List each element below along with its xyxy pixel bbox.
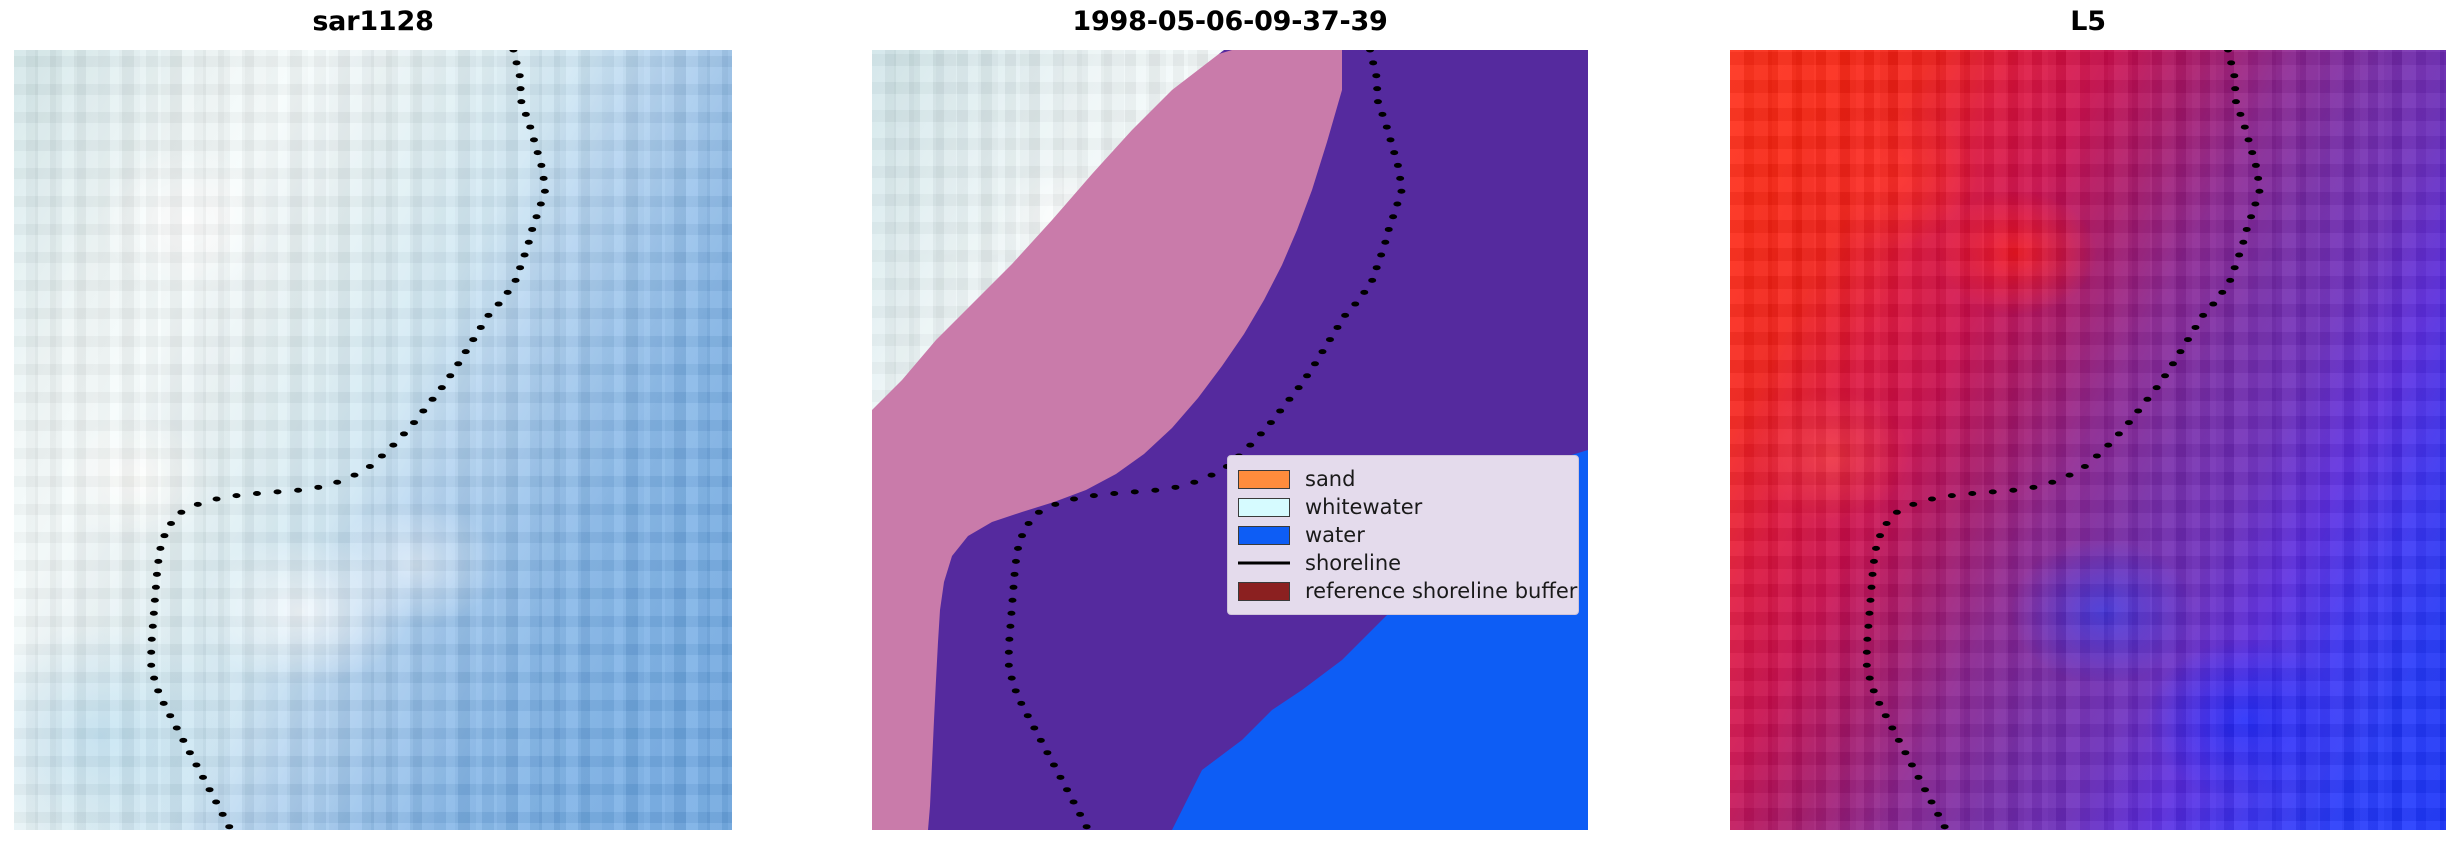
legend-label-whitewater: whitewater: [1305, 497, 1422, 518]
shoreline-overlay-l5: [1730, 50, 2446, 830]
legend-label-water: water: [1305, 525, 1365, 546]
legend-label-reference-buffer: reference shoreline buffer: [1305, 581, 1577, 602]
legend-item-reference-buffer[interactable]: reference shoreline buffer: [1238, 577, 1566, 605]
legend-label-shoreline: shoreline: [1305, 553, 1401, 574]
axes-sar[interactable]: [14, 50, 732, 830]
reference-buffer-swatch: [1238, 582, 1290, 601]
axes-classified[interactable]: sand whitewater water shoreline referenc…: [872, 50, 1588, 830]
legend-box[interactable]: sand whitewater water shoreline referenc…: [1227, 455, 1579, 615]
shoreline-line-marker: [1238, 554, 1290, 573]
shoreline-overlay-classified: [872, 50, 1588, 830]
panel-sar1128: sar1128: [14, 0, 732, 859]
legend-item-water[interactable]: water: [1238, 521, 1566, 549]
panel-title-sar: sar1128: [14, 0, 732, 44]
figure-root: sar1128 1998-05-06-09-37-39: [0, 0, 2460, 859]
legend-item-whitewater[interactable]: whitewater: [1238, 493, 1566, 521]
sand-swatch: [1238, 470, 1290, 489]
legend-item-sand[interactable]: sand: [1238, 465, 1566, 493]
water-swatch: [1238, 526, 1290, 545]
axes-l5[interactable]: [1730, 50, 2446, 830]
whitewater-swatch: [1238, 498, 1290, 517]
legend-label-sand: sand: [1305, 469, 1355, 490]
panel-title-classified: 1998-05-06-09-37-39: [872, 0, 1588, 44]
panel-l5: L5: [1730, 0, 2446, 859]
shoreline-overlay-sar: [14, 50, 732, 830]
legend-item-shoreline[interactable]: shoreline: [1238, 549, 1566, 577]
panel-title-l5: L5: [1730, 0, 2446, 44]
panel-classified: 1998-05-06-09-37-39: [872, 0, 1588, 859]
